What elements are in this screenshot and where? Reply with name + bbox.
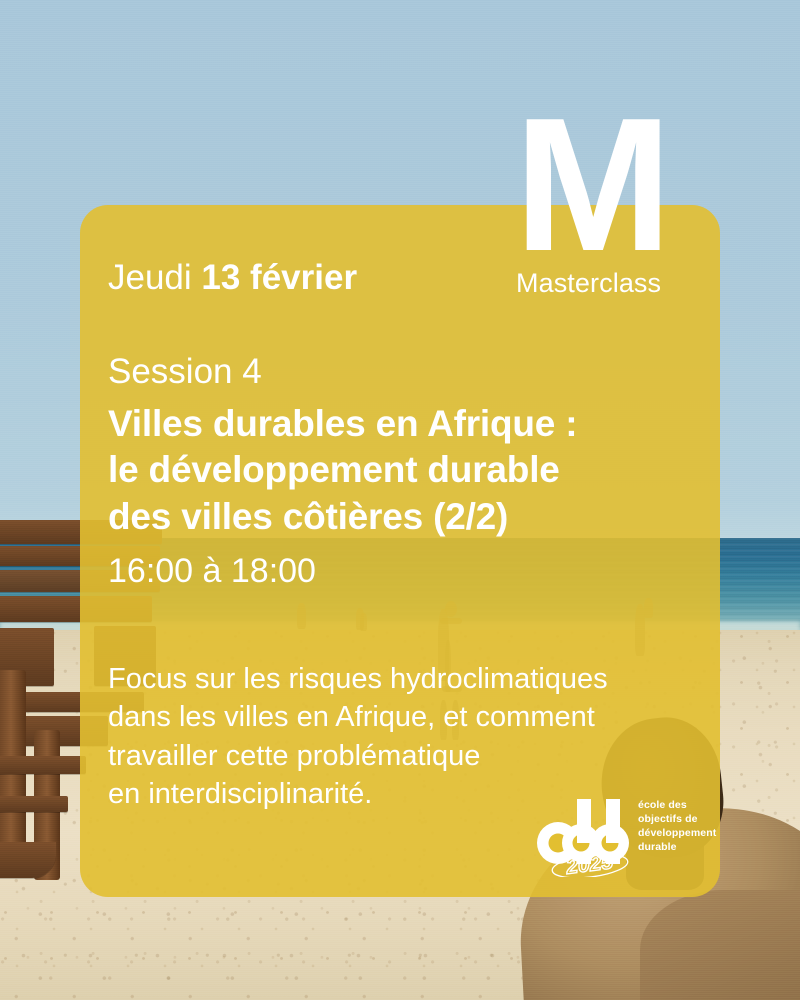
event-info-card: Jeudi 13 février Session 4 Villes durabl…	[80, 205, 720, 897]
card-content: Jeudi 13 février Session 4 Villes durabl…	[108, 205, 700, 897]
odd-logo: 2025 école des objectifs de développemen…	[536, 785, 726, 885]
event-date-prefix: Jeudi	[108, 258, 201, 297]
masterclass-logo: M Masterclass	[508, 108, 708, 297]
session-title: Villes durables en Afrique : le développ…	[108, 401, 708, 540]
session-title-line: des villes côtières (2/2)	[108, 494, 708, 540]
person-shoulder	[640, 890, 800, 1000]
description-line: travailler cette problématique	[108, 737, 708, 775]
odd-wordmark-icon: 2025	[536, 785, 636, 877]
wreck-plank	[0, 756, 86, 774]
session-label: Session 4	[108, 353, 262, 392]
description-line: dans les villes en Afrique, et comment	[108, 698, 708, 736]
masterclass-m-icon: M	[514, 108, 708, 264]
odd-year-label: 2025	[564, 850, 614, 877]
description-line: Focus sur les risques hydroclimatiques	[108, 660, 708, 698]
odd-tagline-line: objectifs de	[638, 813, 730, 827]
event-date: Jeudi 13 février	[108, 259, 357, 298]
odd-tagline: école des objectifs de développement dur…	[638, 799, 730, 854]
masterclass-wordmark: Masterclass	[516, 270, 708, 297]
session-time: 16:00 à 18:00	[108, 553, 316, 590]
session-title-line: le développement durable	[108, 447, 708, 493]
odd-tagline-line: école des	[638, 799, 730, 813]
wreck-plank	[0, 796, 68, 812]
odd-tagline-line: développement	[638, 827, 730, 841]
odd-tagline-line: durable	[638, 841, 730, 855]
event-date-value: 13 février	[201, 258, 357, 297]
event-poster: M Masterclass Jeudi 13 février Session 4…	[0, 0, 800, 1000]
session-title-line: Villes durables en Afrique :	[108, 401, 708, 447]
